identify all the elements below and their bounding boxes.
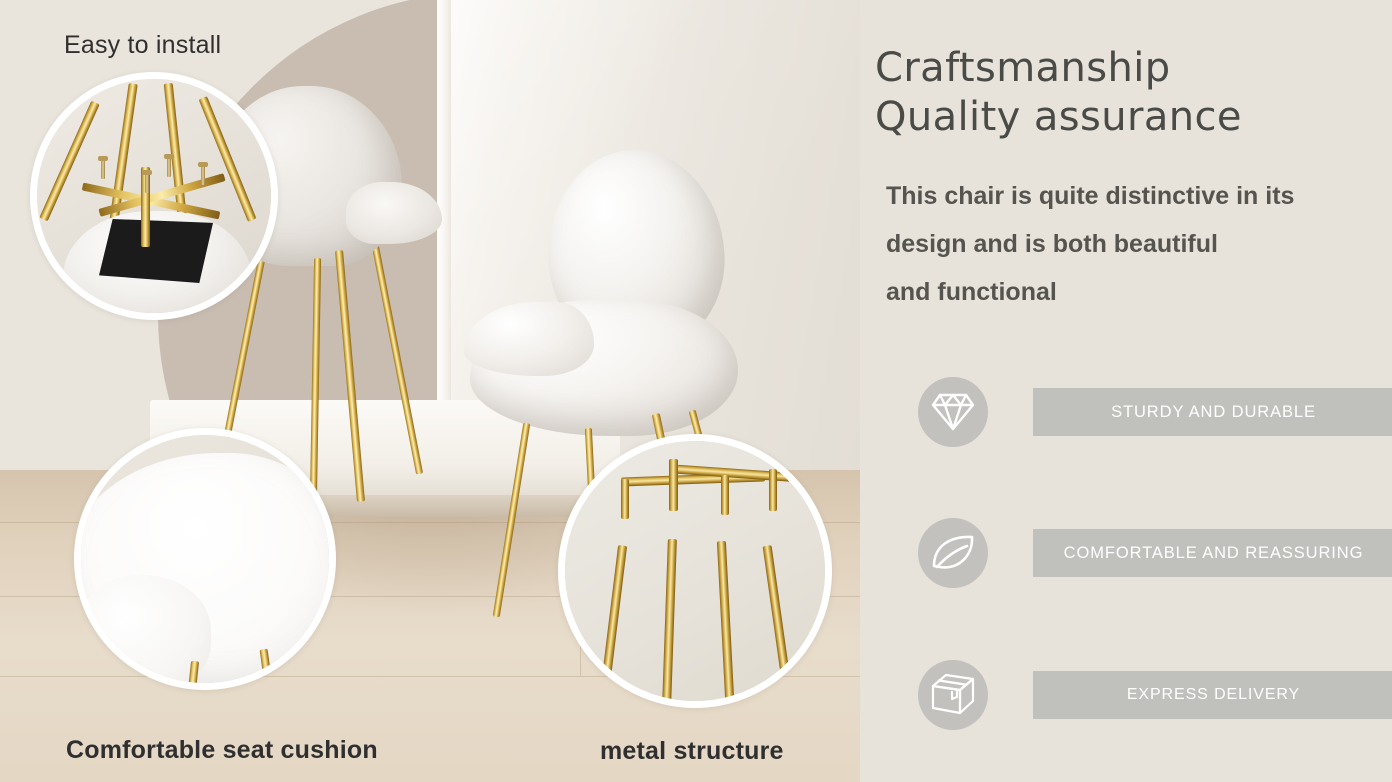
chair-armrest: [464, 302, 594, 376]
feature-label: COMFORTABLE AND REASSURING: [1064, 544, 1364, 563]
mounting-plate: [99, 219, 213, 283]
subcopy-line-2: design and is both beautiful: [886, 220, 1392, 268]
inset-photo: [81, 435, 329, 683]
feature-label-bar: STURDY AND DURABLE: [1033, 388, 1392, 436]
headline-line-2: Quality assurance: [875, 93, 1392, 142]
chair-armrest: [346, 182, 442, 244]
subcopy-line-1: This chair is quite distinctive in its: [886, 172, 1392, 220]
chair-leg: [372, 245, 423, 474]
inset-photo: [37, 79, 271, 313]
caption-metal-structure: metal structure: [600, 737, 784, 766]
inset-cushion-detail: [74, 428, 336, 690]
feature-label: EXPRESS DELIVERY: [1127, 686, 1300, 704]
product-photo-composition: Easy to install Comfortable seat cushion…: [0, 0, 860, 782]
diamond-icon: [918, 377, 988, 447]
product-feature-poster: Easy to install Comfortable seat cushion…: [0, 0, 1392, 782]
inset-metal-structure-detail: [558, 434, 832, 708]
feature-comfortable-and-reassuring: COMFORTABLE AND REASSURING: [918, 518, 1392, 588]
feature-label-bar: EXPRESS DELIVERY: [1033, 671, 1392, 719]
feature-label-bar: COMFORTABLE AND REASSURING: [1033, 529, 1392, 577]
subcopy-line-3: and functional: [886, 268, 1392, 316]
inset-photo: [565, 441, 825, 701]
copy-panel: Craftsmanship Quality assurance This cha…: [860, 0, 1392, 782]
headline: Craftsmanship Quality assurance: [875, 44, 1392, 142]
subcopy: This chair is quite distinctive in its d…: [886, 172, 1392, 316]
package-box-icon: [918, 660, 988, 730]
caption-comfortable-seat-cushion: Comfortable seat cushion: [66, 736, 378, 765]
feature-sturdy-and-durable: STURDY AND DURABLE: [918, 377, 1392, 447]
headline-line-1: Craftsmanship: [875, 44, 1392, 93]
feature-express-delivery: EXPRESS DELIVERY: [918, 660, 1392, 730]
inset-assembly-detail: [30, 72, 278, 320]
caption-easy-to-install: Easy to install: [64, 31, 221, 60]
leaf-icon: [918, 518, 988, 588]
feature-label: STURDY AND DURABLE: [1111, 403, 1316, 422]
chair-leg: [335, 250, 365, 502]
